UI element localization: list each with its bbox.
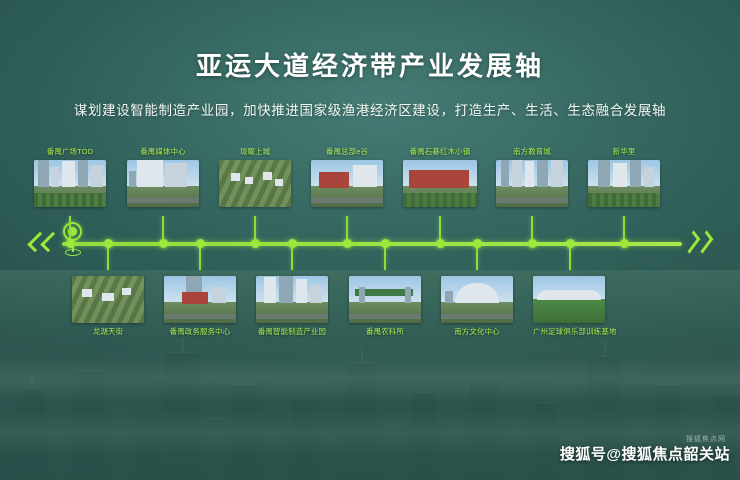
axis-node[interactable] bbox=[343, 239, 352, 248]
axis-node[interactable] bbox=[66, 239, 75, 248]
timeline-card-top-5[interactable]: 番禺石碁红木小镇 bbox=[403, 146, 477, 207]
card-thumbnail[interactable] bbox=[349, 276, 421, 323]
card-thumbnail[interactable] bbox=[441, 276, 513, 323]
axis-node[interactable] bbox=[104, 239, 113, 248]
card-thumbnail[interactable] bbox=[219, 160, 291, 207]
watermark: 搜狐号@搜狐焦点韶关站 bbox=[560, 443, 730, 464]
card-thumbnail[interactable] bbox=[496, 160, 568, 207]
card-label: 番禺石碁红木小镇 bbox=[403, 146, 477, 157]
axis-node[interactable] bbox=[473, 239, 482, 248]
timeline-card-bottom-5[interactable]: 南方文化中心 bbox=[441, 276, 513, 337]
card-label: 番禺广场TOD bbox=[34, 146, 106, 157]
axis-line bbox=[62, 242, 682, 246]
card-label: 番禺智能制造产业园 bbox=[256, 326, 328, 337]
card-label: 广州足球俱乐部训练基地 bbox=[533, 326, 617, 337]
axis-node[interactable] bbox=[159, 239, 168, 248]
card-label: 番禺总部e谷 bbox=[311, 146, 383, 157]
timeline-card-top-4[interactable]: 番禺总部e谷 bbox=[311, 146, 383, 207]
timeline-card-top-6[interactable]: 南方教育城 bbox=[496, 146, 568, 207]
card-label: 南方文化中心 bbox=[441, 326, 513, 337]
card-thumbnail[interactable] bbox=[34, 160, 106, 207]
infographic-canvas: 亚运大道经济带产业发展轴 谋划建设智能制造产业园，加快推进国家级渔港经济区建设，… bbox=[0, 0, 740, 480]
card-thumbnail[interactable] bbox=[311, 160, 383, 207]
axis-node[interactable] bbox=[620, 239, 629, 248]
double-chevron-right-icon bbox=[684, 230, 718, 256]
card-thumbnail[interactable] bbox=[533, 276, 605, 323]
axis-node[interactable] bbox=[566, 239, 575, 248]
timeline-card-top-2[interactable]: 番禺媒体中心 bbox=[127, 146, 199, 207]
timeline-card-bottom-2[interactable]: 番禺政务服务中心 bbox=[164, 276, 236, 337]
timeline-card-bottom-3[interactable]: 番禺智能制造产业园 bbox=[256, 276, 328, 337]
axis-node[interactable] bbox=[251, 239, 260, 248]
card-label: 番禺政务服务中心 bbox=[164, 326, 236, 337]
card-thumbnail[interactable] bbox=[256, 276, 328, 323]
axis-node[interactable] bbox=[381, 239, 390, 248]
axis-node[interactable] bbox=[196, 239, 205, 248]
timeline-card-bottom-6[interactable]: 广州足球俱乐部训练基地 bbox=[533, 276, 617, 337]
timeline-card-bottom-1[interactable]: 龙湖天街 bbox=[72, 276, 144, 337]
timeline-card-top-1[interactable]: 番禺广场TOD bbox=[34, 146, 106, 207]
card-label: 新华里 bbox=[588, 146, 660, 157]
double-chevron-left-icon bbox=[30, 230, 64, 256]
card-label: 南方教育城 bbox=[496, 146, 568, 157]
card-thumbnail[interactable] bbox=[403, 160, 477, 207]
timeline-card-top-3[interactable]: 珑曜上城 bbox=[219, 146, 291, 207]
timeline-card-bottom-4[interactable]: 番禺农科所 bbox=[349, 276, 421, 337]
timeline-axis bbox=[0, 0, 740, 480]
card-label: 珑曜上城 bbox=[219, 146, 291, 157]
timeline-card-top-7[interactable]: 新华里 bbox=[588, 146, 660, 207]
card-label: 龙湖天街 bbox=[72, 326, 144, 337]
axis-node[interactable] bbox=[528, 239, 537, 248]
card-thumbnail[interactable] bbox=[588, 160, 660, 207]
axis-node[interactable] bbox=[436, 239, 445, 248]
card-label: 番禺农科所 bbox=[349, 326, 421, 337]
card-thumbnail[interactable] bbox=[72, 276, 144, 323]
axis-node[interactable] bbox=[288, 239, 297, 248]
card-thumbnail[interactable] bbox=[164, 276, 236, 323]
card-thumbnail[interactable] bbox=[127, 160, 199, 207]
card-label: 番禺媒体中心 bbox=[127, 146, 199, 157]
